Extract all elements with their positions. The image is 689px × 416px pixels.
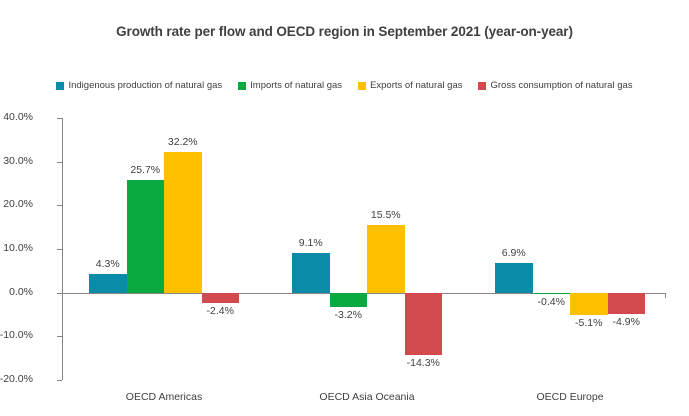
- legend-item-label: Imports of natural gas: [250, 80, 342, 91]
- legend-swatch-icon: [478, 82, 486, 90]
- bar[interactable]: [405, 293, 443, 355]
- chart-container: Growth rate per flow and OECD region in …: [0, 0, 689, 416]
- bar-value-label: 32.2%: [168, 136, 198, 148]
- legend-item-label: Gross consumption of natural gas: [490, 80, 632, 91]
- bar[interactable]: [202, 293, 240, 303]
- bar-value-label: -3.2%: [335, 309, 362, 321]
- bar-value-label: -0.4%: [538, 296, 565, 308]
- y-axis-tick: [57, 118, 62, 119]
- legend-item[interactable]: Indigenous production of natural gas: [56, 80, 222, 91]
- bar[interactable]: [164, 152, 202, 293]
- legend-item[interactable]: Imports of natural gas: [238, 80, 342, 91]
- y-axis-tick-label: 0.0%: [0, 286, 33, 298]
- plot-area: 40.0%30.0%20.0%10.0%0.0%-10.0%-20.0%4.3%…: [62, 118, 666, 380]
- bar-value-label: 25.7%: [130, 164, 160, 176]
- y-axis-tick-label: 40.0%: [0, 111, 33, 123]
- y-axis-tick: [57, 162, 62, 163]
- y-axis-tick-label: -10.0%: [0, 329, 33, 341]
- legend-swatch-icon: [238, 82, 246, 90]
- legend-item[interactable]: Exports of natural gas: [358, 80, 462, 91]
- chart-legend: Indigenous production of natural gasImpo…: [0, 80, 689, 91]
- y-axis-tick: [57, 249, 62, 250]
- x-axis-category-label: OECD Americas: [126, 391, 202, 403]
- bar[interactable]: [570, 293, 608, 315]
- y-axis-tick-label: 20.0%: [0, 198, 33, 210]
- bar[interactable]: [330, 293, 368, 307]
- y-axis-line: [62, 118, 63, 380]
- bar-value-label: -4.9%: [613, 316, 640, 328]
- bar-value-label: 6.9%: [502, 247, 526, 259]
- bar[interactable]: [292, 253, 330, 293]
- bar-value-label: -2.4%: [207, 305, 234, 317]
- y-axis-tick: [57, 205, 62, 206]
- legend-swatch-icon: [358, 82, 366, 90]
- y-axis-tick-label: -20.0%: [0, 373, 33, 385]
- bar[interactable]: [608, 293, 646, 314]
- bar-value-label: 4.3%: [96, 258, 120, 270]
- bar-value-label: -14.3%: [407, 357, 440, 369]
- y-axis-tick: [57, 380, 62, 381]
- x-axis-end-tick: [665, 293, 666, 298]
- bar-value-label: 9.1%: [299, 237, 323, 249]
- bar[interactable]: [127, 180, 165, 292]
- legend-item-label: Exports of natural gas: [370, 80, 462, 91]
- legend-item-label: Indigenous production of natural gas: [68, 80, 222, 91]
- legend-item[interactable]: Gross consumption of natural gas: [478, 80, 632, 91]
- x-axis-category-label: OECD Asia Oceania: [319, 391, 414, 403]
- y-axis-tick: [57, 336, 62, 337]
- y-axis-tick-label: 30.0%: [0, 155, 33, 167]
- x-axis-category-label: OECD Europe: [536, 391, 603, 403]
- bar[interactable]: [533, 293, 571, 295]
- bar-value-label: -5.1%: [575, 317, 602, 329]
- bar[interactable]: [367, 225, 405, 293]
- y-axis-tick: [57, 293, 62, 294]
- bar-value-label: 15.5%: [371, 209, 401, 221]
- legend-swatch-icon: [56, 82, 64, 90]
- bar[interactable]: [89, 274, 127, 293]
- bar[interactable]: [495, 263, 533, 293]
- y-axis-tick-label: 10.0%: [0, 242, 33, 254]
- chart-title: Growth rate per flow and OECD region in …: [0, 24, 689, 39]
